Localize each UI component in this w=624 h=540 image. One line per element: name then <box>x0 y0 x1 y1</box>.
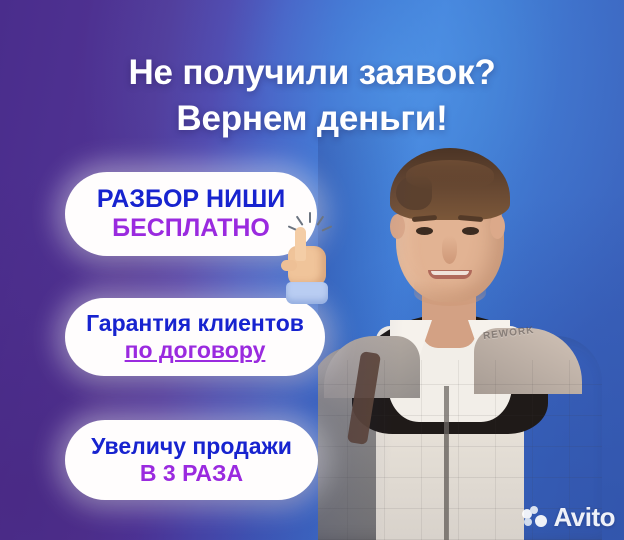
badge-sales-increase[interactable]: Увеличу продажи В 3 РАЗА <box>65 420 318 500</box>
thumb <box>281 260 297 271</box>
badge-3-line-1: Увеличу продажи <box>91 433 292 460</box>
badge-3-line-2: В 3 РАЗА <box>140 460 243 487</box>
sleeve-cuff <box>286 282 328 304</box>
avito-watermark: Avito <box>522 504 615 530</box>
badge-client-guarantee[interactable]: Гарантия клиентов по договору <box>65 298 325 376</box>
headline: Не получили заявок? Вернем деньги! <box>0 50 624 141</box>
person-photo: REWORK <box>318 130 624 540</box>
badge-2-line-1: Гарантия клиентов <box>86 310 304 337</box>
headline-line-2: Вернем деньги! <box>0 96 624 142</box>
advertisement-banner: REWORK Не получили заявок? Вернем деньги… <box>0 0 624 540</box>
avito-logo-icon <box>522 506 547 528</box>
badge-1-line-1: РАЗБОР НИШИ <box>97 185 285 214</box>
badge-2-line-2: по договору <box>125 337 266 364</box>
pointing-hand-icon <box>276 214 340 306</box>
badge-1-line-2: БЕСПЛАТНО <box>112 214 270 243</box>
avito-wordmark: Avito <box>553 504 615 530</box>
index-finger <box>295 227 306 261</box>
photo-edge-shade <box>318 130 624 540</box>
headline-line-1: Не получили заявок? <box>0 50 624 96</box>
